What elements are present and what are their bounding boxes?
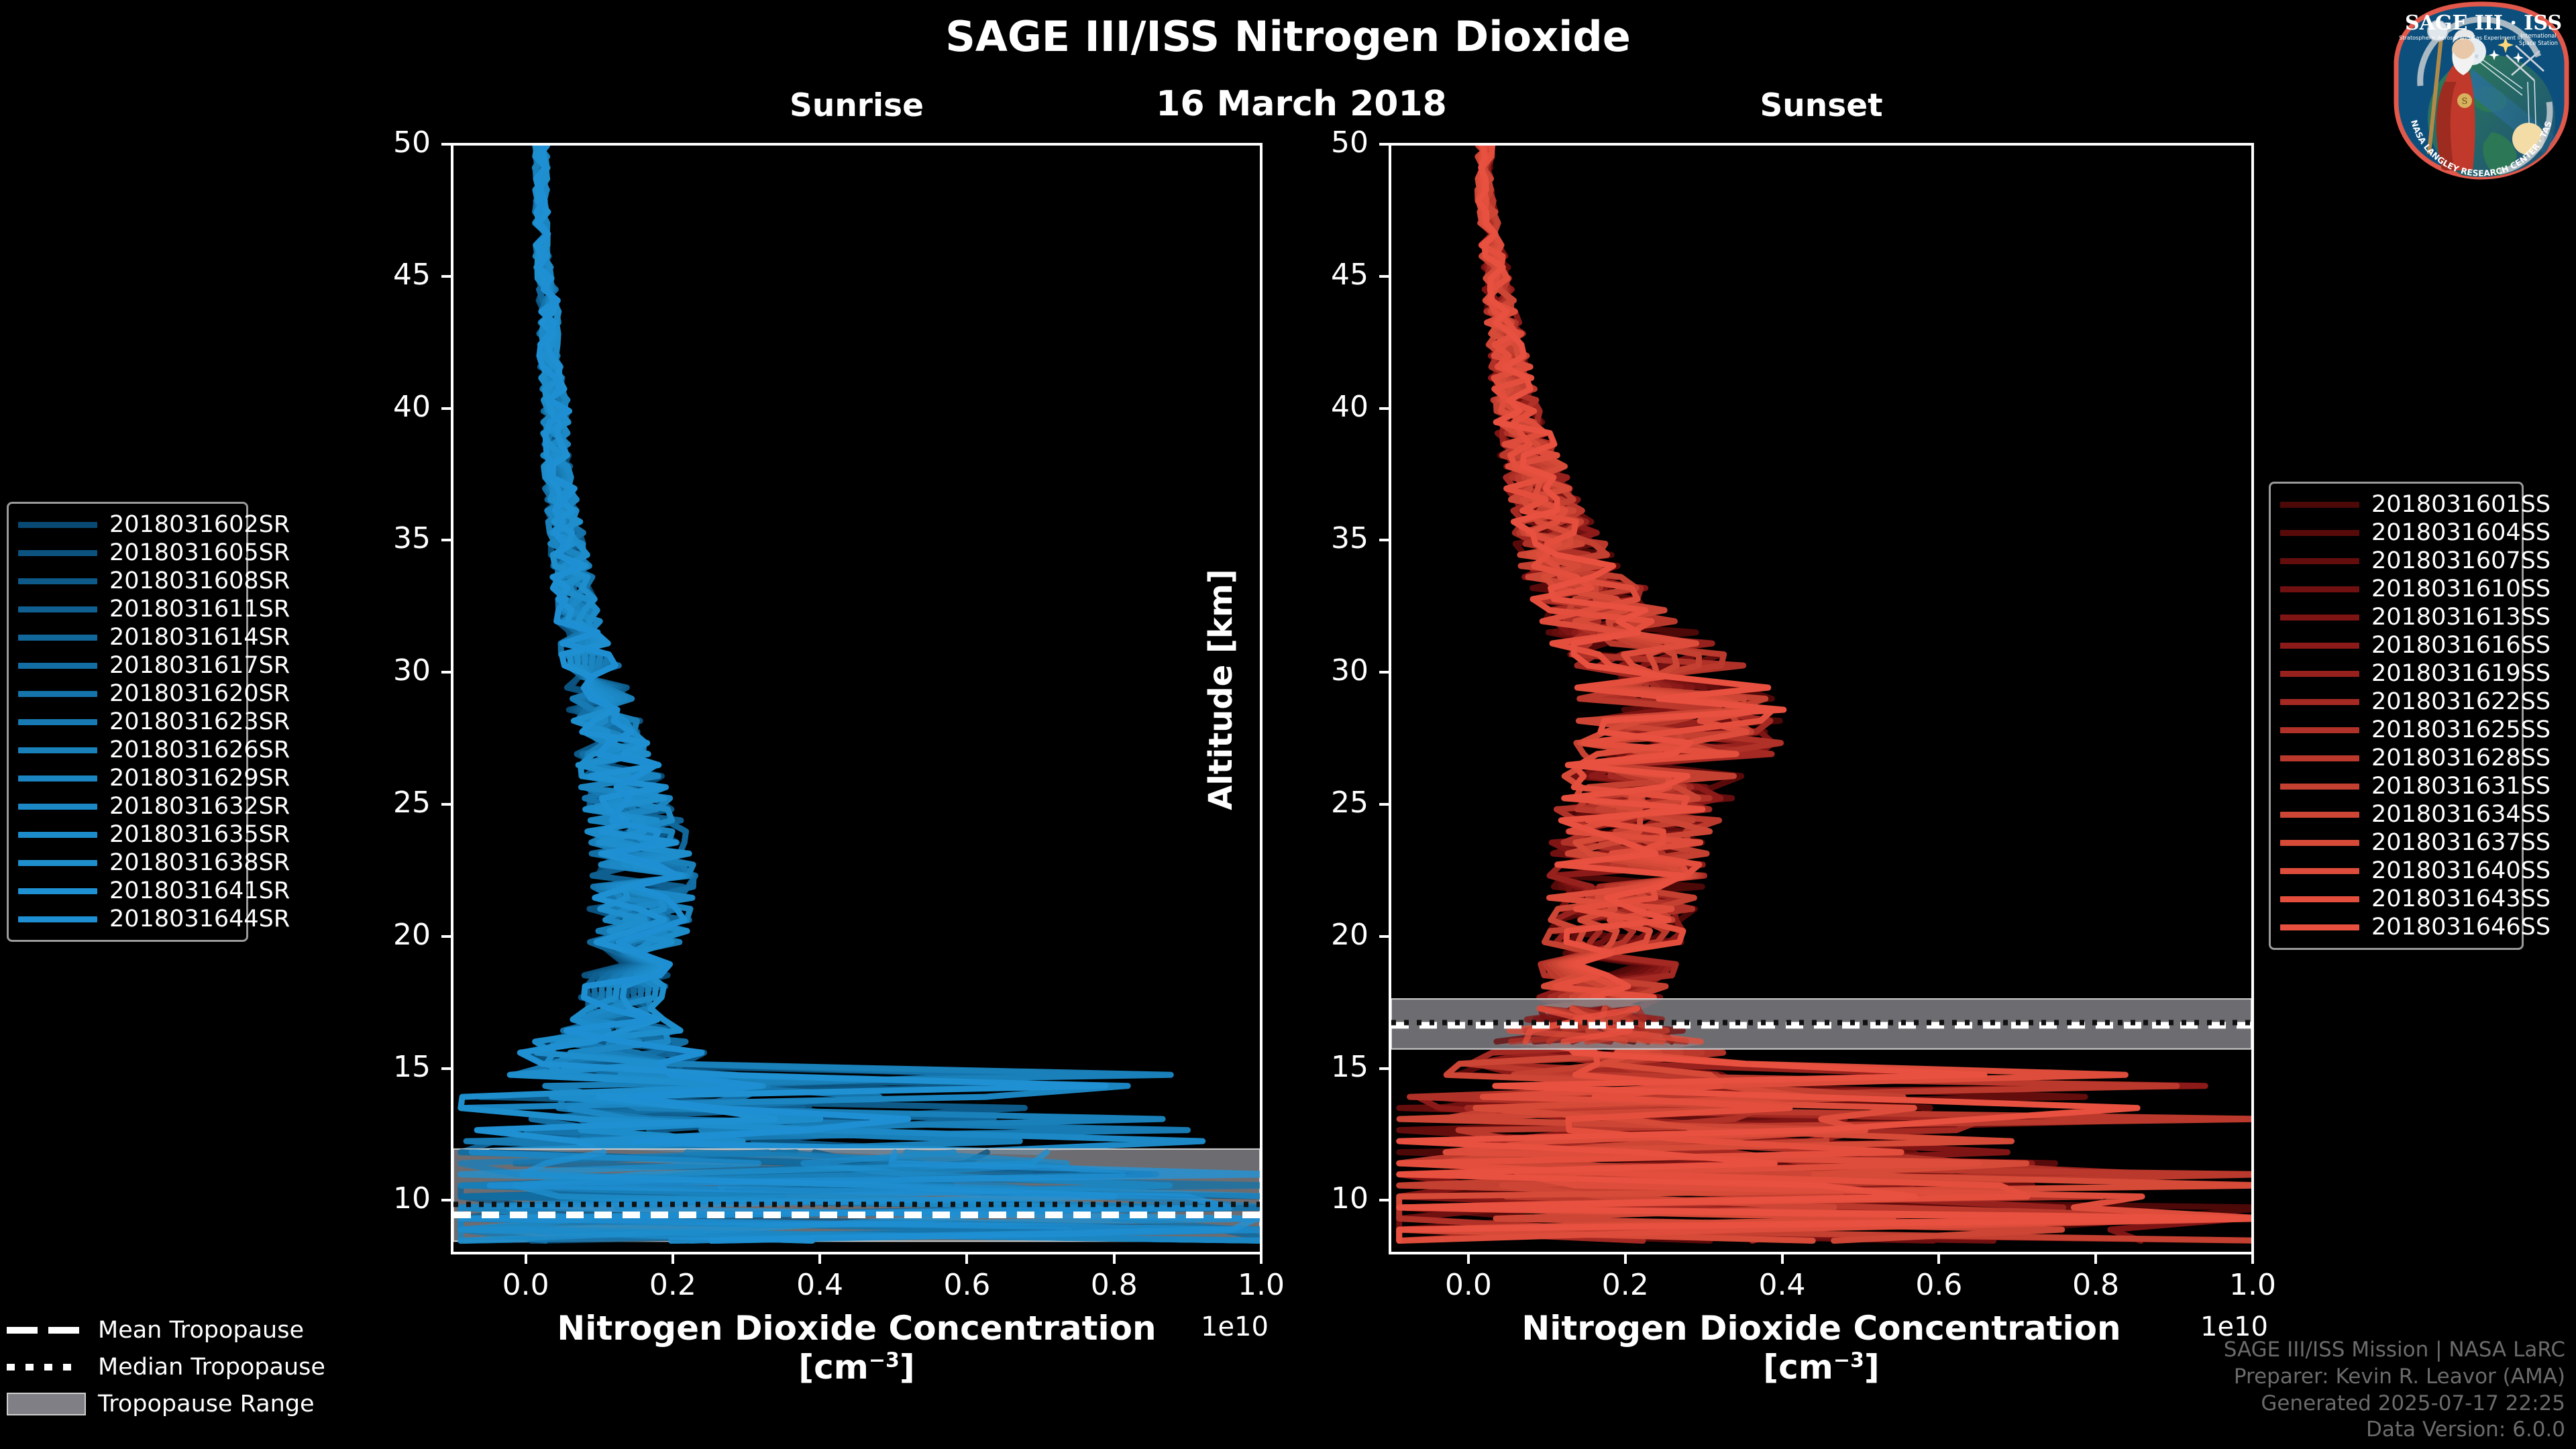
y-tick-mark	[1379, 935, 1389, 938]
legend-item[interactable]: 2018031616SS	[2280, 631, 2512, 659]
legend-color-swatch	[2280, 586, 2359, 592]
x-tick-mark	[818, 1254, 821, 1264]
x-tick-mark	[1937, 1254, 1940, 1264]
legend-item[interactable]: 2018031622SS	[2280, 688, 2512, 716]
legend-label: 2018031631SS	[2371, 773, 2551, 800]
sunset-plot-area	[1389, 143, 2254, 1254]
legend-label: 2018031635SR	[109, 821, 290, 848]
y-tick-mark	[441, 143, 451, 146]
legend-item[interactable]: 2018031631SS	[2280, 772, 2512, 800]
legend-label: 2018031638SR	[109, 849, 290, 876]
legend-label: 2018031617SR	[109, 652, 290, 679]
sunrise-plot-area	[451, 143, 1263, 1254]
legend-label: 2018031614SR	[109, 624, 290, 651]
legend-label: 2018031622SS	[2371, 688, 2551, 715]
legend-color-swatch	[18, 888, 97, 894]
legend-label: 2018031602SR	[109, 511, 290, 538]
y-tick-label: 25	[1281, 786, 1368, 820]
legend-label: 2018031623SR	[109, 708, 290, 735]
x-axis-label-line2: [cm−3]	[1763, 1348, 1879, 1387]
legend-label: 2018031607SS	[2371, 547, 2551, 574]
y-tick-label: 40	[343, 390, 431, 424]
legend-label: 2018031611SR	[109, 596, 290, 623]
legend-label: 2018031626SR	[109, 737, 290, 763]
legend-label: 2018031601SS	[2371, 491, 2551, 518]
legend-color-swatch	[18, 747, 97, 753]
dashed-line-icon	[7, 1327, 86, 1334]
y-tick-mark	[1379, 1199, 1389, 1201]
legend-color-swatch	[2280, 614, 2359, 621]
logo-subtitle: Stratospheric Aerosol and Gas Experiment…	[2399, 34, 2522, 41]
legend-item[interactable]: 2018031635SR	[18, 820, 237, 849]
legend-color-swatch	[18, 663, 97, 669]
legend-tropopause: Mean Tropopause Median Tropopause Tropop…	[7, 1311, 315, 1422]
y-tick-label: 45	[343, 258, 431, 292]
legend-color-swatch	[18, 860, 97, 866]
x-tick-label: 0.8	[1061, 1268, 1168, 1302]
y-tick-mark	[1379, 671, 1389, 674]
x-tick-mark	[965, 1254, 968, 1264]
panel-title-sunrise: Sunrise	[451, 87, 1263, 124]
x-tick-label: 0.4	[1729, 1268, 1836, 1302]
y-tick-label: 45	[1281, 258, 1368, 292]
legend-label: 2018031641SR	[109, 877, 290, 904]
credit-line-mission: SAGE III/ISS Mission | NASA LaRC	[2224, 1337, 2565, 1364]
legend-color-swatch	[2280, 530, 2359, 536]
legend-color-swatch	[18, 719, 97, 725]
x-tick-mark	[1260, 1254, 1263, 1264]
legend-item[interactable]: 2018031620SR	[18, 680, 237, 708]
legend-item[interactable]: 2018031626SR	[18, 736, 237, 764]
legend-color-swatch	[2280, 671, 2359, 677]
y-tick-mark	[441, 935, 451, 938]
x-tick-label: 0.2	[619, 1268, 727, 1302]
credit-line-preparer: Preparer: Kevin R. Leavor (AMA)	[2224, 1364, 2565, 1391]
legend-label: 2018031608SR	[109, 568, 290, 594]
legend-item[interactable]: 2018031617SR	[18, 651, 237, 680]
dotted-line-icon	[7, 1364, 86, 1371]
y-tick-label: 50	[1281, 125, 1368, 160]
legend-item[interactable]: 2018031613SS	[2280, 603, 2512, 631]
legend-label: 2018031634SS	[2371, 801, 2551, 828]
y-tick-mark	[441, 1067, 451, 1070]
legend-item[interactable]: 2018031619SS	[2280, 659, 2512, 688]
legend-color-swatch	[18, 578, 97, 584]
legend-color-swatch	[18, 606, 97, 612]
legend-item[interactable]: 2018031641SR	[18, 877, 237, 905]
y-tick-mark	[1379, 275, 1389, 278]
y-axis-label-sunset: Altitude [km]	[1202, 555, 1240, 824]
legend-item[interactable]: 2018031646SS	[2280, 913, 2512, 941]
legend-color-swatch	[2280, 755, 2359, 761]
legend-item[interactable]: 2018031601SS	[2280, 490, 2512, 519]
x-axis-offset-sunrise: 1e10	[1201, 1311, 1269, 1342]
credits-block: SAGE III/ISS Mission | NASA LaRC Prepare…	[2224, 1337, 2565, 1444]
y-tick-label: 10	[343, 1181, 431, 1216]
legend-item[interactable]: 2018031629SR	[18, 764, 237, 792]
legend-sunset[interactable]: 2018031601SS2018031604SS2018031607SS2018…	[2269, 482, 2524, 950]
sunrise-profile-curves	[453, 146, 1260, 1252]
legend-label: 2018031619SS	[2371, 660, 2551, 687]
legend-color-swatch	[18, 832, 97, 838]
y-tick-mark	[1379, 1067, 1389, 1070]
legend-label-range: Tropopause Range	[98, 1391, 315, 1417]
x-tick-label: 0.6	[913, 1268, 1020, 1302]
legend-item[interactable]: 2018031605SR	[18, 539, 237, 567]
legend-label: 2018031604SS	[2371, 519, 2551, 546]
legend-label: 2018031632SR	[109, 793, 290, 820]
logo-station-line1: International	[2520, 32, 2556, 39]
legend-item[interactable]: 2018031637SS	[2280, 828, 2512, 857]
sunset-profile-curves	[1391, 146, 2251, 1252]
legend-color-swatch	[2280, 643, 2359, 649]
y-tick-label: 15	[1281, 1050, 1368, 1084]
x-tick-mark	[1781, 1254, 1784, 1264]
x-axis-label-sunrise: Nitrogen Dioxide Concentration [cm−3]	[451, 1309, 1263, 1387]
legend-item[interactable]: 2018031634SS	[2280, 800, 2512, 828]
legend-color-swatch	[2280, 924, 2359, 930]
x-tick-label: 0.0	[472, 1268, 580, 1302]
y-tick-label: 20	[343, 918, 431, 952]
x-tick-label: 1.0	[1207, 1268, 1315, 1302]
legend-label-median: Median Tropopause	[98, 1354, 325, 1381]
x-tick-label: 0.0	[1415, 1268, 1522, 1302]
x-tick-mark	[1624, 1254, 1627, 1264]
y-tick-mark	[441, 275, 451, 278]
y-tick-mark	[1379, 143, 1389, 146]
legend-item[interactable]: 2018031640SS	[2280, 857, 2512, 885]
legend-label: 2018031643SS	[2371, 885, 2551, 912]
y-tick-label: 10	[1281, 1181, 1368, 1216]
svg-text:S: S	[2462, 97, 2468, 107]
x-axis-label-line1: Nitrogen Dioxide Concentration	[557, 1309, 1156, 1348]
x-tick-label: 0.2	[1572, 1268, 1679, 1302]
legend-color-swatch	[2280, 868, 2359, 874]
x-tick-mark	[1113, 1254, 1116, 1264]
legend-item[interactable]: 2018031625SS	[2280, 716, 2512, 744]
legend-color-swatch	[18, 804, 97, 810]
panel-title-sunset: Sunset	[1389, 87, 2254, 124]
legend-label: 2018031616SS	[2371, 632, 2551, 659]
x-axis-label-sunset: Nitrogen Dioxide Concentration [cm−3]	[1389, 1309, 2254, 1387]
legend-label: 2018031625SS	[2371, 716, 2551, 743]
legend-color-swatch	[18, 775, 97, 782]
figure-canvas: SAGE III/ISS Nitrogen Dioxide 16 March 2…	[0, 0, 2576, 1449]
y-tick-mark	[441, 671, 451, 674]
legend-item[interactable]: 2018031607SS	[2280, 547, 2512, 575]
y-tick-mark	[1379, 407, 1389, 410]
x-axis-label-line2: [cm−3]	[798, 1348, 914, 1387]
legend-sunrise[interactable]: 2018031602SR2018031605SR2018031608SR2018…	[7, 502, 248, 942]
legend-color-swatch	[2280, 558, 2359, 564]
legend-item[interactable]: 2018031611SR	[18, 595, 237, 623]
legend-color-swatch	[2280, 502, 2359, 508]
y-tick-mark	[1379, 803, 1389, 806]
legend-item[interactable]: 2018031638SR	[18, 849, 237, 877]
x-tick-mark	[1467, 1254, 1470, 1264]
page-title: SAGE III/ISS Nitrogen Dioxide	[0, 12, 2576, 61]
legend-item[interactable]: 2018031610SS	[2280, 575, 2512, 603]
y-tick-mark	[1379, 539, 1389, 541]
sage-iii-iss-mission-patch-logo: S SAGE III · ISS Stratospheric Aerosol a…	[2391, 1, 2572, 181]
y-tick-label: 30	[343, 653, 431, 688]
x-tick-label: 1.0	[2199, 1268, 2306, 1302]
y-tick-label: 15	[343, 1050, 431, 1084]
legend-label: 2018031640SS	[2371, 857, 2551, 884]
legend-item[interactable]: 2018031644SR	[18, 905, 237, 933]
legend-item[interactable]: 2018031604SS	[2280, 519, 2512, 547]
x-tick-mark	[525, 1254, 527, 1264]
legend-item-mean-tropopause: Mean Tropopause	[7, 1311, 315, 1348]
credit-line-generated: Generated 2025-07-17 22:25	[2224, 1391, 2565, 1417]
legend-color-swatch	[2280, 784, 2359, 790]
legend-color-swatch	[18, 550, 97, 556]
legend-color-swatch	[2280, 896, 2359, 902]
legend-color-swatch	[2280, 840, 2359, 846]
legend-item-tropopause-range: Tropopause Range	[7, 1385, 315, 1422]
x-tick-mark	[672, 1254, 674, 1264]
y-tick-mark	[441, 539, 451, 541]
legend-color-swatch	[18, 916, 97, 922]
legend-label: 2018031613SS	[2371, 604, 2551, 631]
y-tick-mark	[441, 803, 451, 806]
x-tick-label: 0.8	[2042, 1268, 2149, 1302]
legend-label: 2018031620SR	[109, 680, 290, 707]
y-tick-label: 35	[343, 521, 431, 555]
y-tick-label: 30	[1281, 653, 1368, 688]
legend-item[interactable]: 2018031623SR	[18, 708, 237, 736]
legend-color-swatch	[2280, 812, 2359, 818]
legend-color-swatch	[18, 691, 97, 697]
legend-color-swatch	[18, 635, 97, 641]
y-tick-label: 35	[1281, 521, 1368, 555]
x-tick-mark	[2094, 1254, 2097, 1264]
legend-color-swatch	[2280, 727, 2359, 733]
y-tick-label: 20	[1281, 918, 1368, 952]
range-band-icon	[7, 1393, 86, 1415]
x-tick-mark	[2251, 1254, 2254, 1264]
y-tick-mark	[441, 407, 451, 410]
y-tick-label: 50	[343, 125, 431, 160]
credit-line-version: Data Version: 6.0.0	[2224, 1417, 2565, 1444]
x-axis-label-line1: Nitrogen Dioxide Concentration	[1521, 1309, 2121, 1348]
legend-label: 2018031629SR	[109, 765, 290, 792]
legend-label: 2018031628SS	[2371, 745, 2551, 771]
y-tick-label: 40	[1281, 390, 1368, 424]
legend-label: 2018031644SR	[109, 906, 290, 932]
legend-color-swatch	[2280, 699, 2359, 705]
legend-item[interactable]: 2018031614SR	[18, 623, 237, 651]
x-tick-label: 0.4	[766, 1268, 873, 1302]
logo-station-line2: Space Station	[2519, 40, 2558, 46]
legend-item[interactable]: 2018031643SS	[2280, 885, 2512, 913]
y-tick-label: 25	[343, 786, 431, 820]
legend-item-median-tropopause: Median Tropopause	[7, 1348, 315, 1385]
legend-item[interactable]: 2018031608SR	[18, 567, 237, 595]
legend-label: 2018031637SS	[2371, 829, 2551, 856]
legend-item[interactable]: 2018031602SR	[18, 511, 237, 539]
logo-title: SAGE III · ISS	[2405, 11, 2562, 35]
legend-color-swatch	[18, 522, 97, 528]
y-tick-mark	[441, 1199, 451, 1201]
legend-label: 2018031610SS	[2371, 576, 2551, 602]
legend-label-mean: Mean Tropopause	[98, 1317, 304, 1344]
legend-label: 2018031605SR	[109, 539, 290, 566]
x-tick-label: 0.6	[1885, 1268, 1992, 1302]
legend-item[interactable]: 2018031628SS	[2280, 744, 2512, 772]
legend-item[interactable]: 2018031632SR	[18, 792, 237, 820]
legend-label: 2018031646SS	[2371, 914, 2551, 941]
